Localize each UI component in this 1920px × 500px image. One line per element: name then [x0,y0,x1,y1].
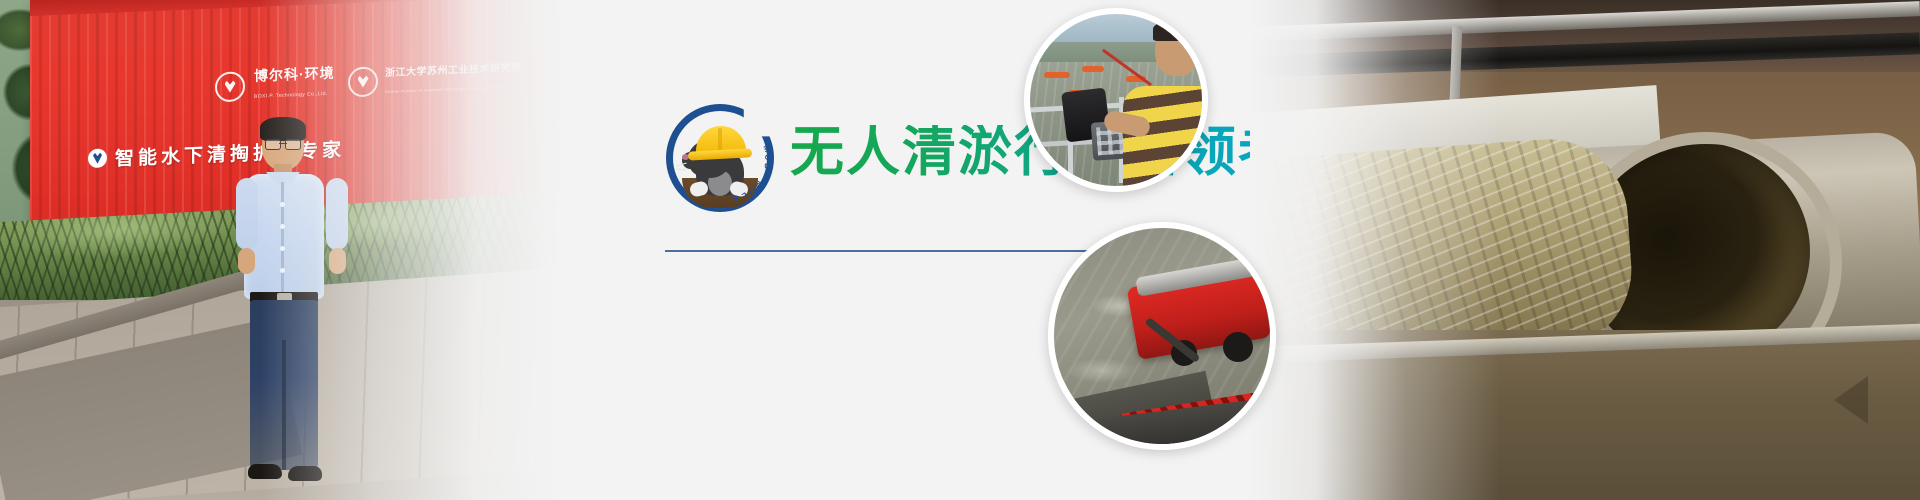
dredging-robot-photo [1048,222,1276,450]
direction-arrow-icon [1834,376,1868,424]
logo-arc-letter: E [732,193,740,203]
c1-float-buoy [1044,72,1070,78]
robot-photo-scene [1054,228,1270,444]
logo-arc-letter: U [763,154,772,161]
left-photo: 博尔科·环境 BOXI.P. Technology Co.,Ltd. 浙江大学苏… [0,0,560,500]
c2-robot-wheel [1223,332,1253,362]
right-photo-group [1250,0,1920,500]
person-left-arm [236,178,258,250]
operator-remote-control-photo [1024,8,1208,192]
hard-hat-rib [718,128,722,152]
mud-mole-logo: MUDMOLE [666,104,774,212]
left-photo-fade [260,0,560,500]
c1-float-buoy [1082,66,1104,72]
company-seal-icon [215,71,245,102]
logo-arc-letter: M [753,179,764,190]
c1-operator-hair [1153,21,1199,41]
logo-arc-letter: D [762,163,772,170]
right-photo-fade [1250,0,1500,500]
logo-arc-text: MUDMOLE [722,154,778,210]
operator-photo-scene [1030,14,1202,186]
person-left-hand [238,248,255,274]
hero-banner: 博尔科·环境 BOXI.P. Technology Co.,Ltd. 浙江大学苏… [0,0,1920,500]
slogan-mark-icon [88,148,107,168]
